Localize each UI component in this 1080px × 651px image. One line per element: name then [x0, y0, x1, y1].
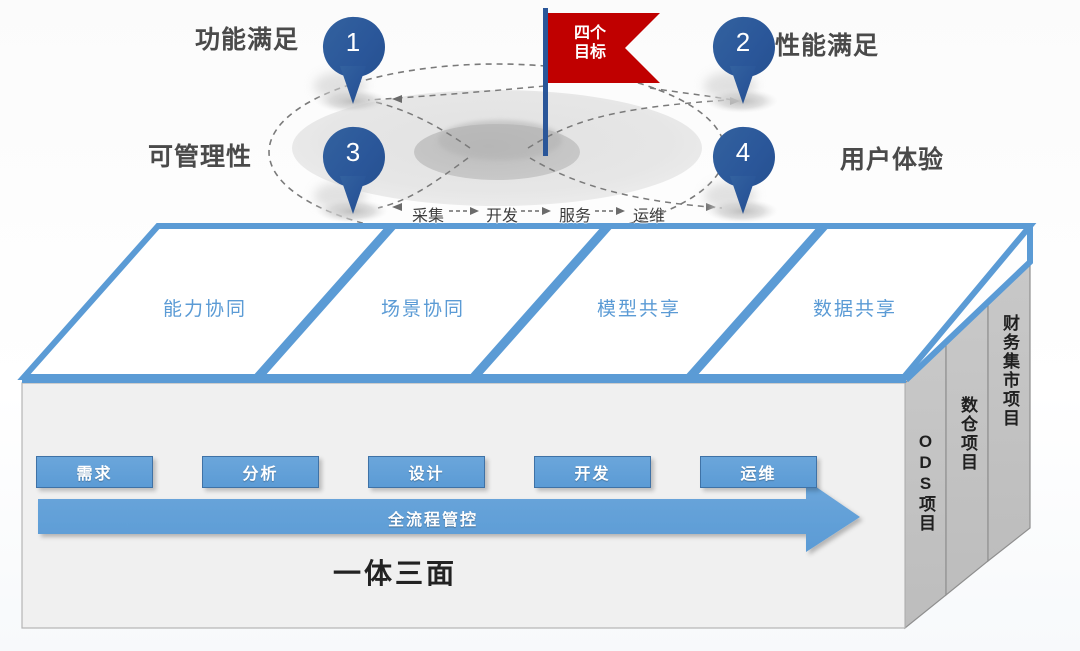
top-slab-label-4[interactable]: 数据共享 — [813, 294, 897, 321]
process-stage-button-2[interactable]: 分析 — [202, 456, 319, 488]
process-arrow-label: 全流程管控 — [388, 506, 478, 530]
flag-pole — [543, 8, 548, 156]
top-slab-label-3[interactable]: 模型共享 — [597, 294, 681, 321]
top-slab-label-1[interactable]: 能力协同 — [163, 294, 247, 321]
top-slab-label-2[interactable]: 场景协同 — [381, 294, 465, 321]
side-panel-label-ods[interactable]: ODS项目 — [917, 432, 934, 533]
flag-label-line1: 四个 — [560, 24, 620, 43]
process-stage-button-5[interactable]: 运维 — [700, 456, 817, 488]
goal-label-4: 用户体验 — [840, 140, 944, 176]
flow-step-4: 运维 — [633, 202, 665, 226]
process-stage-button-1[interactable]: 需求 — [36, 456, 153, 488]
bottom-title: 一体三面 — [333, 552, 457, 592]
process-stage-button-3[interactable]: 设计 — [368, 456, 485, 488]
goal-label-2: 性能满足 — [775, 26, 879, 62]
flag-label-line2: 目标 — [560, 43, 620, 62]
diagram-canvas: 功能满足 性能满足 可管理性 用户体验 1 2 3 4 四个 目标 采集 开发 … — [0, 0, 1080, 651]
side-panel-label-finance[interactable]: 财务集市项目 — [1001, 314, 1018, 428]
flow-step-1: 采集 — [412, 202, 444, 226]
flow-step-3: 服务 — [559, 202, 591, 226]
pin-number-4: 4 — [720, 137, 766, 168]
pin-number-2: 2 — [720, 27, 766, 58]
arrowhead-to-pin3 — [392, 203, 402, 211]
flow-arrowhead-2 — [542, 207, 551, 215]
goal-label-1: 功能满足 — [195, 20, 299, 56]
process-stage-button-4[interactable]: 开发 — [534, 456, 651, 488]
diagram-geometry — [0, 0, 1080, 651]
goal-label-3: 可管理性 — [148, 137, 252, 173]
flow-arrowhead-1 — [470, 207, 479, 215]
side-panel-label-dw[interactable]: 数仓项目 — [959, 396, 976, 472]
flow-step-2: 开发 — [486, 202, 518, 226]
pin-number-1: 1 — [330, 27, 376, 58]
flow-arrowhead-3 — [616, 207, 625, 215]
pin-number-3: 3 — [330, 137, 376, 168]
